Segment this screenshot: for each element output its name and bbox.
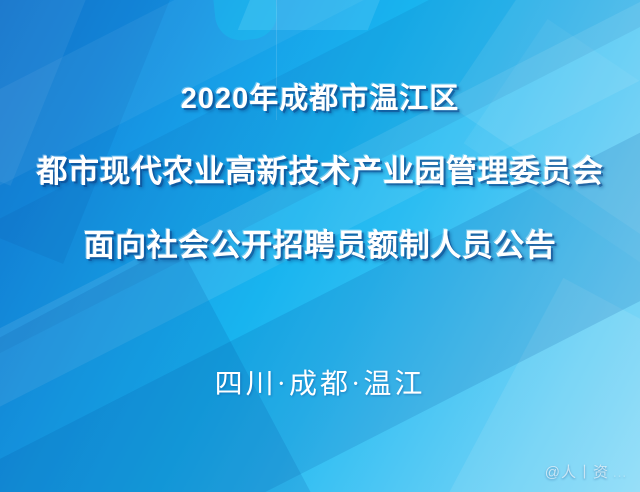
title-line-2: 都市现代农业高新技术产业园管理委员会 bbox=[0, 154, 640, 190]
banner-content: 2020年成都市温江区 都市现代农业高新技术产业园管理委员会 面向社会公开招聘员… bbox=[0, 0, 640, 492]
banner-title: 2020年成都市温江区 都市现代农业高新技术产业园管理委员会 面向社会公开招聘员… bbox=[0, 82, 640, 264]
title-line-1: 2020年成都市温江区 bbox=[0, 82, 640, 116]
watermark-text: @人丨资 bbox=[545, 464, 609, 481]
announcement-banner: 2020年成都市温江区 都市现代农业高新技术产业园管理委员会 面向社会公开招聘员… bbox=[0, 0, 640, 492]
banner-subtitle-location: 四川·成都·温江 bbox=[0, 368, 640, 402]
title-line-3: 面向社会公开招聘员额制人员公告 bbox=[0, 228, 640, 264]
watermark-tail: … bbox=[612, 464, 628, 481]
watermark: @人丨资… bbox=[545, 464, 628, 482]
